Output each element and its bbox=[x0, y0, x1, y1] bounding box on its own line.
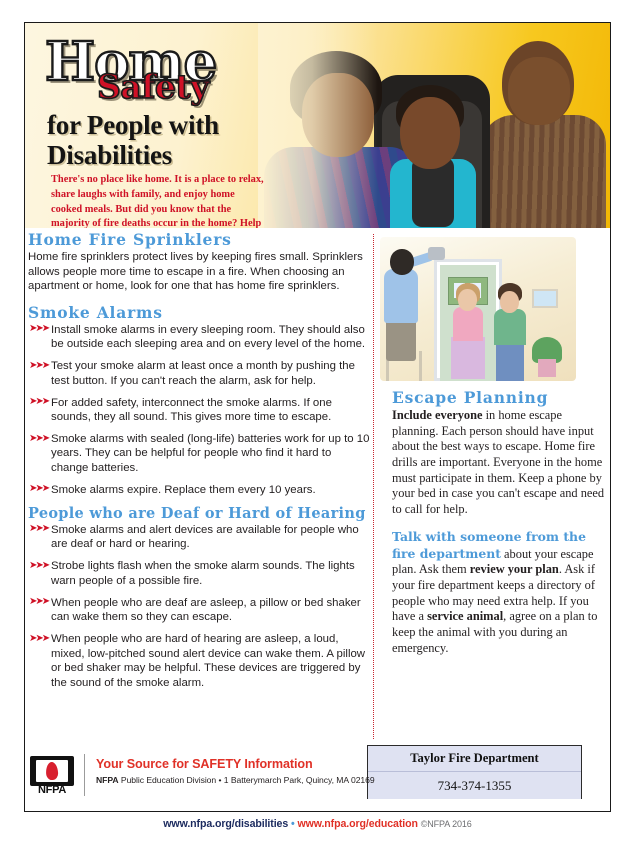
flyer-page: Home Safety for People with Disabilities… bbox=[0, 0, 635, 844]
chevron-bullet-icon: ➤➤➤ bbox=[29, 433, 48, 446]
list-item-text: When people who are hard of hearing are … bbox=[51, 633, 365, 688]
footer-divider bbox=[84, 754, 85, 796]
smoke-alarms-list: ➤➤➤Install smoke alarms in every sleepin… bbox=[28, 323, 370, 498]
illustration-shape bbox=[494, 309, 526, 345]
list-item-text: Smoke alarms expire. Replace them every … bbox=[51, 484, 316, 496]
illustration-shape bbox=[390, 249, 414, 275]
chevron-bullet-icon: ➤➤➤ bbox=[29, 633, 48, 646]
url-separator: • bbox=[291, 818, 295, 830]
list-item: ➤➤➤Smoke alarms with sealed (long-life) … bbox=[28, 432, 370, 475]
list-item: ➤➤➤For added safety, interconnect the sm… bbox=[28, 396, 370, 425]
list-item-text: Strobe lights flash when the smoke alarm… bbox=[51, 560, 355, 586]
illustration-shape bbox=[451, 337, 485, 379]
illustration-shape bbox=[496, 343, 524, 381]
list-item: ➤➤➤Test your smoke alarm at least once a… bbox=[28, 359, 370, 388]
smoke-alarm-icon bbox=[428, 247, 445, 260]
footer-address: NFPA Public Education Division • 1 Batte… bbox=[96, 775, 375, 785]
footer-tagline: Your Source for SAFETY Information bbox=[96, 757, 313, 771]
intro-paragraph: There's no place like home. It is a plac… bbox=[51, 173, 266, 228]
list-item-text: For added safety, interconnect the smoke… bbox=[51, 397, 332, 423]
escape-bold-lead: Include everyone bbox=[392, 408, 483, 422]
right-column: Escape Planning Include everyone in home… bbox=[392, 388, 608, 667]
chevron-bullet-icon: ➤➤➤ bbox=[29, 360, 48, 373]
left-column: Home Fire Sprinklers Home fire sprinkler… bbox=[28, 230, 370, 698]
url-education[interactable]: www.nfpa.org/education bbox=[297, 818, 417, 830]
list-item-text: When people who are deaf are asleep, a p… bbox=[51, 597, 361, 623]
list-item-text: Smoke alarms with sealed (long-life) bat… bbox=[51, 433, 369, 474]
headline-block: Home Safety for People with Disabilities bbox=[45, 37, 345, 170]
illustration-shape bbox=[538, 359, 556, 377]
section-heading-deaf-hoh: People who are Deaf or Hard of Hearing bbox=[28, 505, 370, 522]
list-item-text: Smoke alarms and alert devices are avail… bbox=[51, 524, 359, 550]
photo-shape bbox=[400, 97, 460, 169]
chevron-bullet-icon: ➤➤➤ bbox=[29, 523, 48, 536]
escape-body-text: in home escape planning. Each person sho… bbox=[392, 408, 604, 516]
illustration-shape bbox=[458, 289, 477, 311]
copyright-notice: ©NFPA 2016 bbox=[421, 819, 472, 829]
chevron-bullet-icon: ➤➤➤ bbox=[29, 323, 48, 336]
title-word-safety: Safety bbox=[97, 72, 345, 102]
section-heading-escape-planning: Escape Planning bbox=[392, 388, 608, 407]
illustration-shape bbox=[500, 291, 519, 313]
list-item: ➤➤➤When people who are hard of hearing a… bbox=[28, 632, 370, 690]
list-item: ➤➤➤Install smoke alarms in every sleepin… bbox=[28, 323, 370, 352]
header-banner: Home Safety for People with Disabilities… bbox=[25, 23, 610, 228]
chevron-bullet-icon: ➤➤➤ bbox=[29, 396, 48, 409]
deaf-hoh-list: ➤➤➤Smoke alarms and alert devices are av… bbox=[28, 523, 370, 690]
footer: NFPA Your Source for SAFETY Information … bbox=[0, 752, 635, 810]
list-item: ➤➤➤When people who are deaf are asleep, … bbox=[28, 596, 370, 625]
page-title-subtitle: for People with Disabilities bbox=[47, 110, 345, 170]
chevron-bullet-icon: ➤➤➤ bbox=[29, 560, 48, 573]
nfpa-wordmark: NFPA bbox=[30, 784, 74, 796]
url-disabilities[interactable]: www.nfpa.org/disabilities bbox=[163, 818, 288, 830]
chevron-bullet-icon: ➤➤➤ bbox=[29, 596, 48, 609]
illustration-shape bbox=[386, 319, 416, 361]
nfpa-logo: NFPA bbox=[28, 756, 76, 800]
sprinklers-body: Home fire sprinklers protect lives by ke… bbox=[28, 250, 370, 294]
list-item: ➤➤➤Strobe lights flash when the smoke al… bbox=[28, 559, 370, 588]
list-item: ➤➤➤Smoke alarms expire. Replace them eve… bbox=[28, 483, 370, 497]
list-item: ➤➤➤Smoke alarms and alert devices are av… bbox=[28, 523, 370, 552]
list-item-text: Test your smoke alarm at least once a mo… bbox=[51, 360, 355, 386]
footer-org-name: NFPA bbox=[96, 775, 119, 785]
talk-fire-department-body: Talk with someone from the fire departme… bbox=[392, 529, 608, 657]
photo-shape bbox=[480, 115, 606, 228]
section-heading-sprinklers: Home Fire Sprinklers bbox=[28, 230, 370, 249]
photo-shape bbox=[508, 57, 570, 125]
escape-planning-body: Include everyone in home escape planning… bbox=[392, 408, 608, 518]
smoke-alarm-illustration bbox=[372, 233, 582, 385]
section-heading-smoke-alarms: Smoke Alarms bbox=[28, 303, 370, 322]
footer-org-address: Public Education Division • 1 Batterymar… bbox=[119, 775, 375, 785]
talk-bold-review: review your plan bbox=[470, 562, 559, 576]
chevron-bullet-icon: ➤➤➤ bbox=[29, 483, 48, 496]
illustration-shape bbox=[453, 307, 483, 341]
footer-urls: www.nfpa.org/disabilities • www.nfpa.org… bbox=[0, 818, 635, 830]
list-item-text: Install smoke alarms in every sleeping r… bbox=[51, 324, 365, 350]
picture-frame-icon bbox=[532, 289, 558, 308]
talk-bold-service-animal: service animal bbox=[427, 609, 503, 623]
illustration-shape bbox=[384, 269, 418, 323]
